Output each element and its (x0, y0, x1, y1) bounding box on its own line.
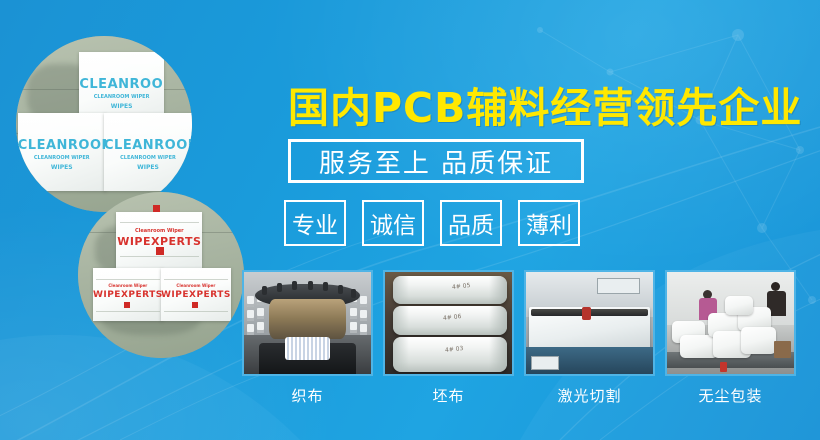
process-caption-cleanroom-packaging: 无尘包装 (665, 385, 796, 406)
process-item-cleanroom-packaging[interactable]: 无尘包装 (665, 270, 796, 406)
process-item-weaving[interactable]: 织布 (242, 270, 373, 406)
process-photo-laser-cutting (524, 270, 655, 376)
process-caption-weaving: 织布 (242, 385, 373, 406)
process-caption-greige-fabric: 坯布 (383, 385, 514, 406)
process-photo-cleanroom-packaging (665, 270, 796, 376)
process-caption-laser-cutting: 激光切割 (524, 385, 655, 406)
process-item-laser-cutting[interactable]: 激光切割 (524, 270, 655, 406)
product-photo-wipexperts-wipes: Cleanroom Wiper WIPEXPERTS Cleanroom Wip… (78, 192, 244, 358)
promo-banner: CLEANROOM CLEANROOM WIPER WIPES CLEANROO… (0, 0, 820, 440)
process-photo-greige-fabric: 4# 05 4# 06 4# 03 (383, 270, 514, 376)
feature-tag-row: 专业 诚信 品质 薄利 (284, 200, 580, 246)
product-photo-cleanroom-wipes: CLEANROOM CLEANROOM WIPER WIPES CLEANROO… (16, 36, 192, 212)
banner-subtitle-text: 服务至上 品质保证 (319, 143, 553, 180)
feature-tag-quality[interactable]: 品质 (440, 200, 502, 246)
process-photo-strip: 织布 4# 05 4# 06 4# 03 坯布 (242, 270, 796, 406)
process-item-greige-fabric[interactable]: 4# 05 4# 06 4# 03 坯布 (383, 270, 514, 406)
feature-tag-professional[interactable]: 专业 (284, 200, 346, 246)
feature-tag-low-margin[interactable]: 薄利 (518, 200, 580, 246)
banner-headline: 国内PCB辅料经营领先企业 (288, 74, 802, 134)
process-photo-weaving (242, 270, 373, 376)
banner-subtitle-box: 服务至上 品质保证 (288, 139, 584, 183)
feature-tag-integrity[interactable]: 诚信 (362, 200, 424, 246)
